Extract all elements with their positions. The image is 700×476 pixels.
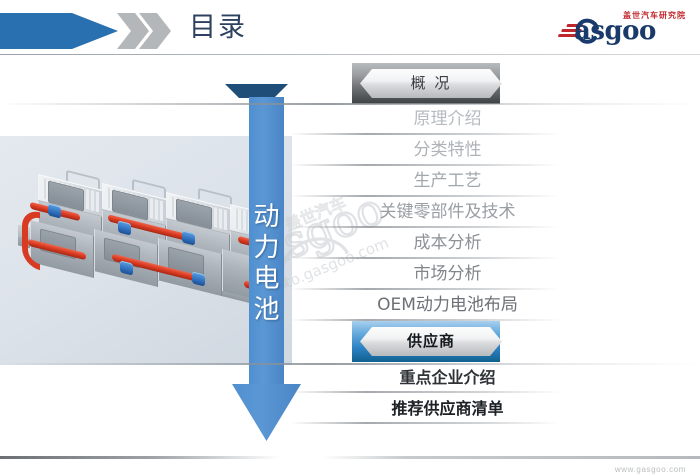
toc-item-3[interactable]: 生产工艺 [330,166,700,197]
toc-item-label: 推荐供应商清单 [330,393,565,424]
toc-ribbon-active[interactable]: 供应商 [352,321,500,362]
toc-item-label: OEM动力电池布局 [330,290,565,321]
toc-item-9[interactable]: 重点企业介绍 [330,362,700,393]
toc-item-1[interactable]: 原理介绍 [330,104,700,135]
arrow-bevel [225,84,288,98]
arrow-label-char: 池 [253,295,279,325]
toc-item-label: 概 况 [360,69,502,98]
arrow-label: 动 力 电 池 [249,202,284,326]
toc-item-label: 分类特性 [330,135,565,166]
toc-item-4[interactable]: 关键零部件及技术 [330,197,700,228]
table-of-contents: 概 况原理介绍分类特性生产工艺关键零部件及技术成本分析市场分析OEM动力电池布局… [330,63,700,443]
toc-item-0[interactable]: 概 况 [330,63,700,104]
header-divider [0,54,700,55]
toc-item-label: 原理介绍 [330,104,565,135]
toc-item-label: 市场分析 [330,259,565,290]
arrow-label-char: 动 [253,202,279,232]
logo-wordmark: asgoo [574,16,656,46]
toc-item-label: 生产工艺 [330,166,565,197]
toc-separator [290,422,560,424]
gasgoo-logo: 盖世汽车研究院 asgoo [559,10,687,48]
footer-url: www.gasgoo.com [615,465,686,474]
toc-item-10[interactable]: 推荐供应商清单 [330,393,700,424]
header-arrow-shape [0,13,118,49]
arrow-label-char: 电 [253,264,279,294]
toc-item-label: 重点企业介绍 [330,362,565,393]
toc-item-5[interactable]: 成本分析 [330,228,700,259]
toc-item-2[interactable]: 分类特性 [330,135,700,166]
footer-divider [0,456,700,459]
slide-canvas: 目录 盖世汽车研究院 asgoo [0,0,700,476]
arrow-label-char: 力 [253,233,279,263]
toc-item-label: 成本分析 [330,228,565,259]
toc-item-8[interactable]: 供应商 [330,321,700,362]
toc-item-7[interactable]: OEM动力电池布局 [330,290,700,321]
toc-item-label: 关键零部件及技术 [330,197,565,228]
toc-ribbon[interactable]: 概 况 [352,63,500,104]
down-arrow-banner: 动 力 电 池 [239,84,311,441]
toc-item-6[interactable]: 市场分析 [330,259,700,290]
page-title: 目录 [189,10,247,46]
toc-item-label: 供应商 [360,327,502,356]
